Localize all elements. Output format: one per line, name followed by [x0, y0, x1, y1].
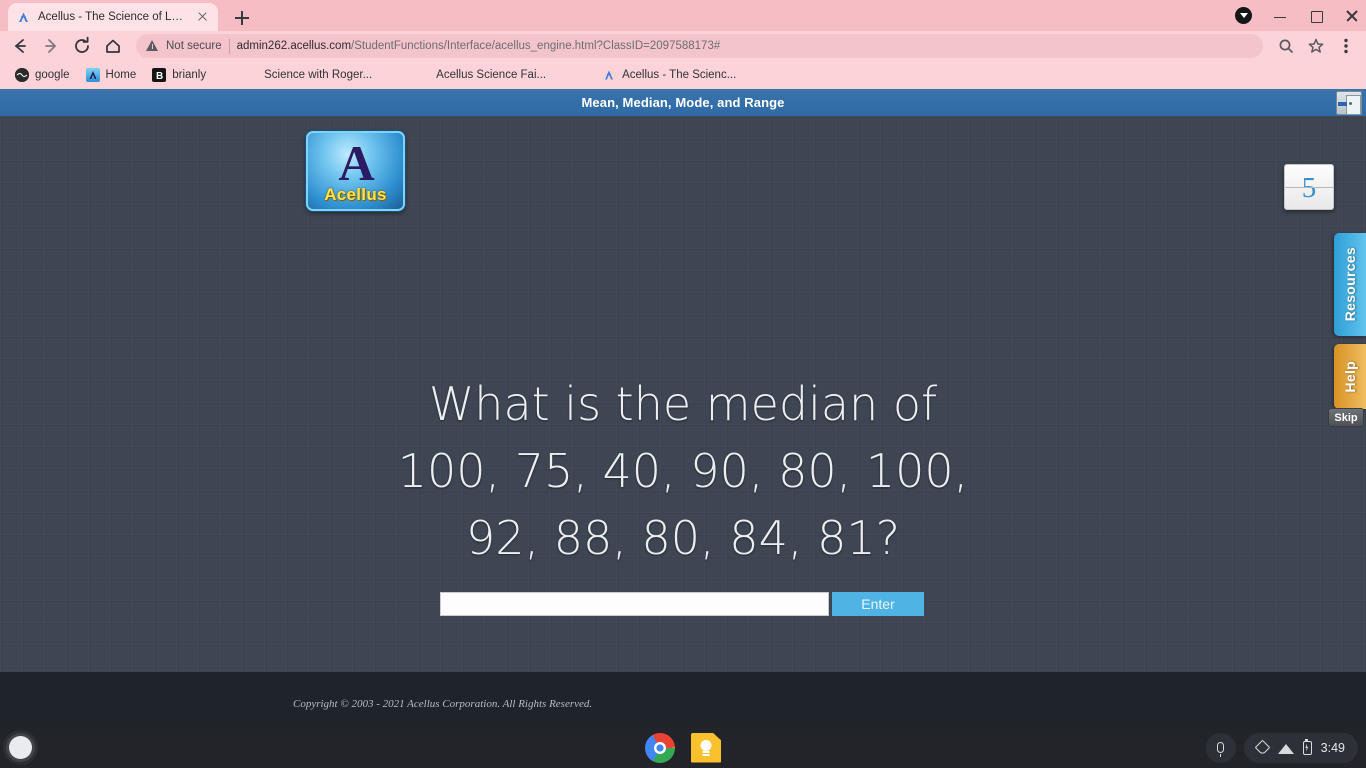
bookmark-label: brianly: [172, 69, 206, 81]
bookmark-label: Home: [106, 69, 137, 81]
browser-tab[interactable]: Acellus - The Science of Learning: [8, 3, 218, 31]
tab-close-icon[interactable]: [196, 10, 210, 24]
question-text: What is the median of 100, 75, 40, 90, 8…: [333, 371, 1033, 572]
skip-button-label: Skip: [1334, 412, 1357, 424]
acellus-page: Mean, Median, Mode, and Range A Acellus …: [0, 89, 1366, 727]
microphone-icon[interactable]: [1206, 733, 1236, 763]
help-tab[interactable]: Help: [1334, 344, 1366, 409]
page-footer: Copyright © 2003 - 2021 Acellus Corporat…: [0, 672, 1366, 727]
skip-button[interactable]: Skip: [1328, 408, 1364, 427]
resources-tab-label: Resources: [1342, 247, 1358, 321]
bookmark-home[interactable]: Home: [79, 65, 144, 85]
google-globe-icon: [15, 68, 29, 82]
question-line: 100, 75, 40, 90, 80, 100,: [333, 438, 1033, 505]
status-tray-pill[interactable]: 3:49: [1244, 733, 1358, 763]
bookmark-label: Acellus - The Scienc...: [622, 69, 736, 81]
acellus-logo-letter: A: [338, 138, 372, 188]
url-path: /StudentFunctions/Interface/acellus_engi…: [351, 40, 720, 52]
lesson-stage: A Acellus What is the median of 100, 75,…: [0, 116, 1366, 672]
omnibox-divider: [229, 39, 230, 54]
close-window-icon[interactable]: [1344, 8, 1360, 24]
bookmark-acellus-science[interactable]: Acellus - The Scienc...: [595, 65, 743, 85]
three-dot-menu-icon[interactable]: [1332, 32, 1360, 60]
window-controls: [1235, 0, 1360, 31]
acellus-logo-word: Acellus: [308, 185, 403, 205]
search-icon[interactable]: [1272, 32, 1300, 60]
help-tab-label: Help: [1342, 361, 1358, 393]
lesson-header: Mean, Median, Mode, and Range: [0, 89, 1366, 116]
new-tab-button[interactable]: [230, 6, 254, 30]
lesson-title: Mean, Median, Mode, and Range: [582, 95, 785, 110]
acellus-favicon-icon: [16, 10, 31, 25]
home-icon[interactable]: [99, 32, 127, 60]
back-arrow-icon[interactable]: [6, 32, 34, 60]
bookmark-google[interactable]: google: [8, 65, 77, 85]
bookmarks-bar: google Home B brianly Science with Roger…: [0, 61, 1366, 88]
svg-text:B: B: [156, 71, 163, 82]
enter-button[interactable]: Enter: [832, 592, 924, 616]
bookmark-label: Acellus Science Fai...: [436, 69, 546, 81]
bookmark-label: Science with Roger...: [264, 69, 372, 81]
battery-charging-icon[interactable]: [1303, 741, 1312, 755]
minimize-icon[interactable]: [1272, 8, 1288, 24]
maximize-restore-icon[interactable]: [1308, 8, 1324, 24]
acellus-logo: A Acellus: [306, 131, 405, 211]
bookmark-acellus-science-fair[interactable]: Acellus Science Fai...: [429, 66, 553, 84]
answer-input[interactable]: [440, 592, 829, 616]
acellus-icon: [86, 68, 100, 82]
system-tray: 3:49: [1206, 727, 1358, 768]
star-icon[interactable]: [1302, 32, 1330, 60]
tab-strip: Acellus - The Science of Learning: [0, 0, 1366, 31]
problem-counter: 5: [1284, 164, 1334, 210]
not-secure-warning-icon: [146, 40, 159, 52]
chrome-icon[interactable]: [645, 733, 675, 763]
question-line: What is the median of: [333, 371, 1033, 438]
resources-tab[interactable]: Resources: [1334, 233, 1366, 336]
bookmark-label: google: [35, 69, 70, 81]
wifi-icon[interactable]: [1278, 742, 1294, 754]
brainly-icon: B: [152, 68, 166, 82]
acellus-icon: [602, 68, 616, 82]
address-bar[interactable]: Not secure admin262.acellus.com/StudentF…: [136, 34, 1263, 58]
security-status-label: Not secure: [166, 40, 222, 52]
download-indicator-icon[interactable]: [1235, 7, 1252, 24]
shelf-app-list: [0, 727, 1366, 768]
forward-arrow-icon[interactable]: [37, 32, 65, 60]
copyright-text: Copyright © 2003 - 2021 Acellus Corporat…: [293, 698, 592, 710]
url-host: admin262.acellus.com: [237, 40, 351, 52]
bookmark-science-with-roger[interactable]: Science with Roger...: [257, 66, 379, 84]
google-keep-icon[interactable]: [691, 733, 721, 763]
problem-counter-value: 5: [1285, 170, 1333, 206]
url-text: admin262.acellus.com/StudentFunctions/In…: [237, 40, 721, 52]
toolbar-right-actions: [1272, 32, 1360, 60]
answer-row: Enter: [440, 592, 924, 616]
clock-label: 3:49: [1321, 741, 1345, 755]
reload-icon[interactable]: [68, 32, 96, 60]
bookmark-brianly[interactable]: B brianly: [145, 65, 213, 85]
stylus-pen-icon[interactable]: [1255, 741, 1269, 755]
exit-door-icon[interactable]: [1336, 91, 1362, 115]
question-line: 92, 88, 80, 84, 81?: [333, 505, 1033, 572]
chromeos-shelf: 3:49: [0, 727, 1366, 768]
browser-toolbar: Not secure admin262.acellus.com/StudentF…: [0, 31, 1366, 61]
tab-title: Acellus - The Science of Learning: [38, 11, 189, 23]
